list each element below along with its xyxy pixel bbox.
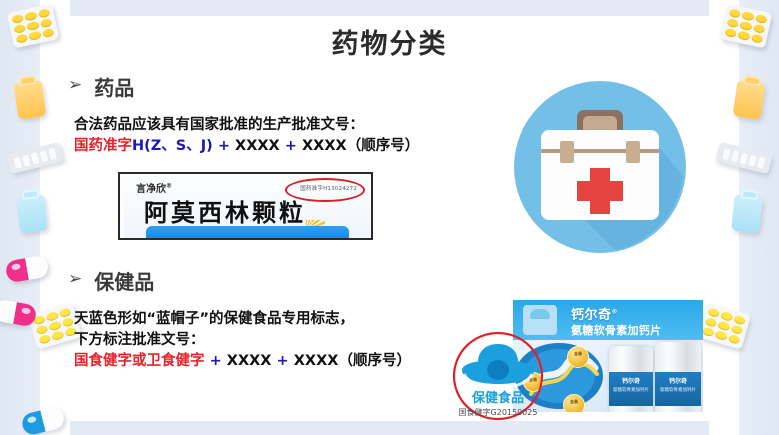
blue-hat-logo: 保健食品 国食健字G20150025: [452, 330, 544, 422]
blue-band-graphic: [146, 226, 349, 238]
section-health-products: ➢ 保健品 天蓝色形如“蓝帽子”的保健食品专用标志， 下方标注批准文号： 国食健…: [68, 266, 411, 372]
blue-hat-approval: 国食健字G20150025: [459, 407, 538, 417]
blue-hat-label: 保健食品: [471, 390, 524, 406]
health-product-name: 氨糖软骨素加钙片: [571, 322, 661, 338]
slide-canvas: 药物分类 ➢ 药品 合法药品应该具有国家批准的生产批准文号： 国药准字H(Z、S…: [0, 0, 779, 435]
section-drugs-heading: ➢ 药品: [68, 72, 419, 101]
cyan-bottle-icon: [16, 195, 48, 234]
health-line-3: 国食健字或卫食健字 + XXXX + XXXX（顺序号）: [74, 351, 411, 372]
product-jar-label: 钙尔奇 氨糖软骨素加钙片: [609, 372, 653, 406]
drug-package-photo: 言净欣® 阿莫西林颗粒 国药准字H13024272: [118, 172, 373, 240]
top-border-band: [0, 0, 779, 16]
health-line-1: 天蓝色形如“蓝帽子”的保健食品专用标志，: [74, 309, 411, 330]
health-line-2: 下方标注批准文号：: [74, 330, 411, 351]
cyan-bottle-icon: [731, 195, 763, 234]
amber-bottle-icon: [14, 80, 47, 120]
section-health-title: 保健品: [94, 266, 154, 295]
health-product-brand: 钙尔奇®: [571, 304, 618, 323]
product-medal-icon: 金装: [567, 346, 589, 368]
drug-package-face: 言净欣® 阿莫西林颗粒 国药准字H13024272: [124, 174, 371, 238]
page-title: 药物分类: [0, 22, 779, 61]
bottom-border-band: [0, 421, 779, 435]
arrow-bullet-icon: ➢: [68, 77, 82, 94]
section-drugs: ➢ 药品 合法药品应该具有国家批准的生产批准文号： 国药准字H(Z、S、J) +…: [68, 72, 419, 157]
amber-bottle-icon: [733, 80, 766, 120]
red-highlight-ellipse: [285, 178, 365, 202]
drugs-line-1: 合法药品应该具有国家批准的生产批准文号：: [74, 115, 419, 136]
arrow-bullet-icon: ➢: [68, 271, 82, 288]
section-drugs-body: 合法药品应该具有国家批准的生产批准文号： 国药准字H(Z、S、J) + XXXX…: [74, 115, 419, 157]
section-drugs-title: 药品: [94, 72, 134, 101]
product-medal-icon: 金装: [563, 394, 585, 412]
section-health-body: 天蓝色形如“蓝帽子”的保健食品专用标志， 下方标注批准文号： 国食健字或卫食健字…: [74, 309, 411, 372]
drug-product-name: 阿莫西林颗粒: [144, 193, 306, 228]
section-health-heading: ➢ 保健品: [68, 266, 411, 295]
product-jar: 钙尔奇 氨糖软骨素加钙片: [655, 342, 701, 412]
first-aid-kit-icon: [505, 72, 695, 262]
product-jar: 钙尔奇 氨糖软骨素加钙片: [609, 346, 653, 412]
product-jar-label: 钙尔奇 氨糖软骨素加钙片: [655, 372, 701, 406]
drugs-line-2: 国药准字H(Z、S、J) + XXXX + XXXX（顺序号）: [74, 136, 419, 157]
